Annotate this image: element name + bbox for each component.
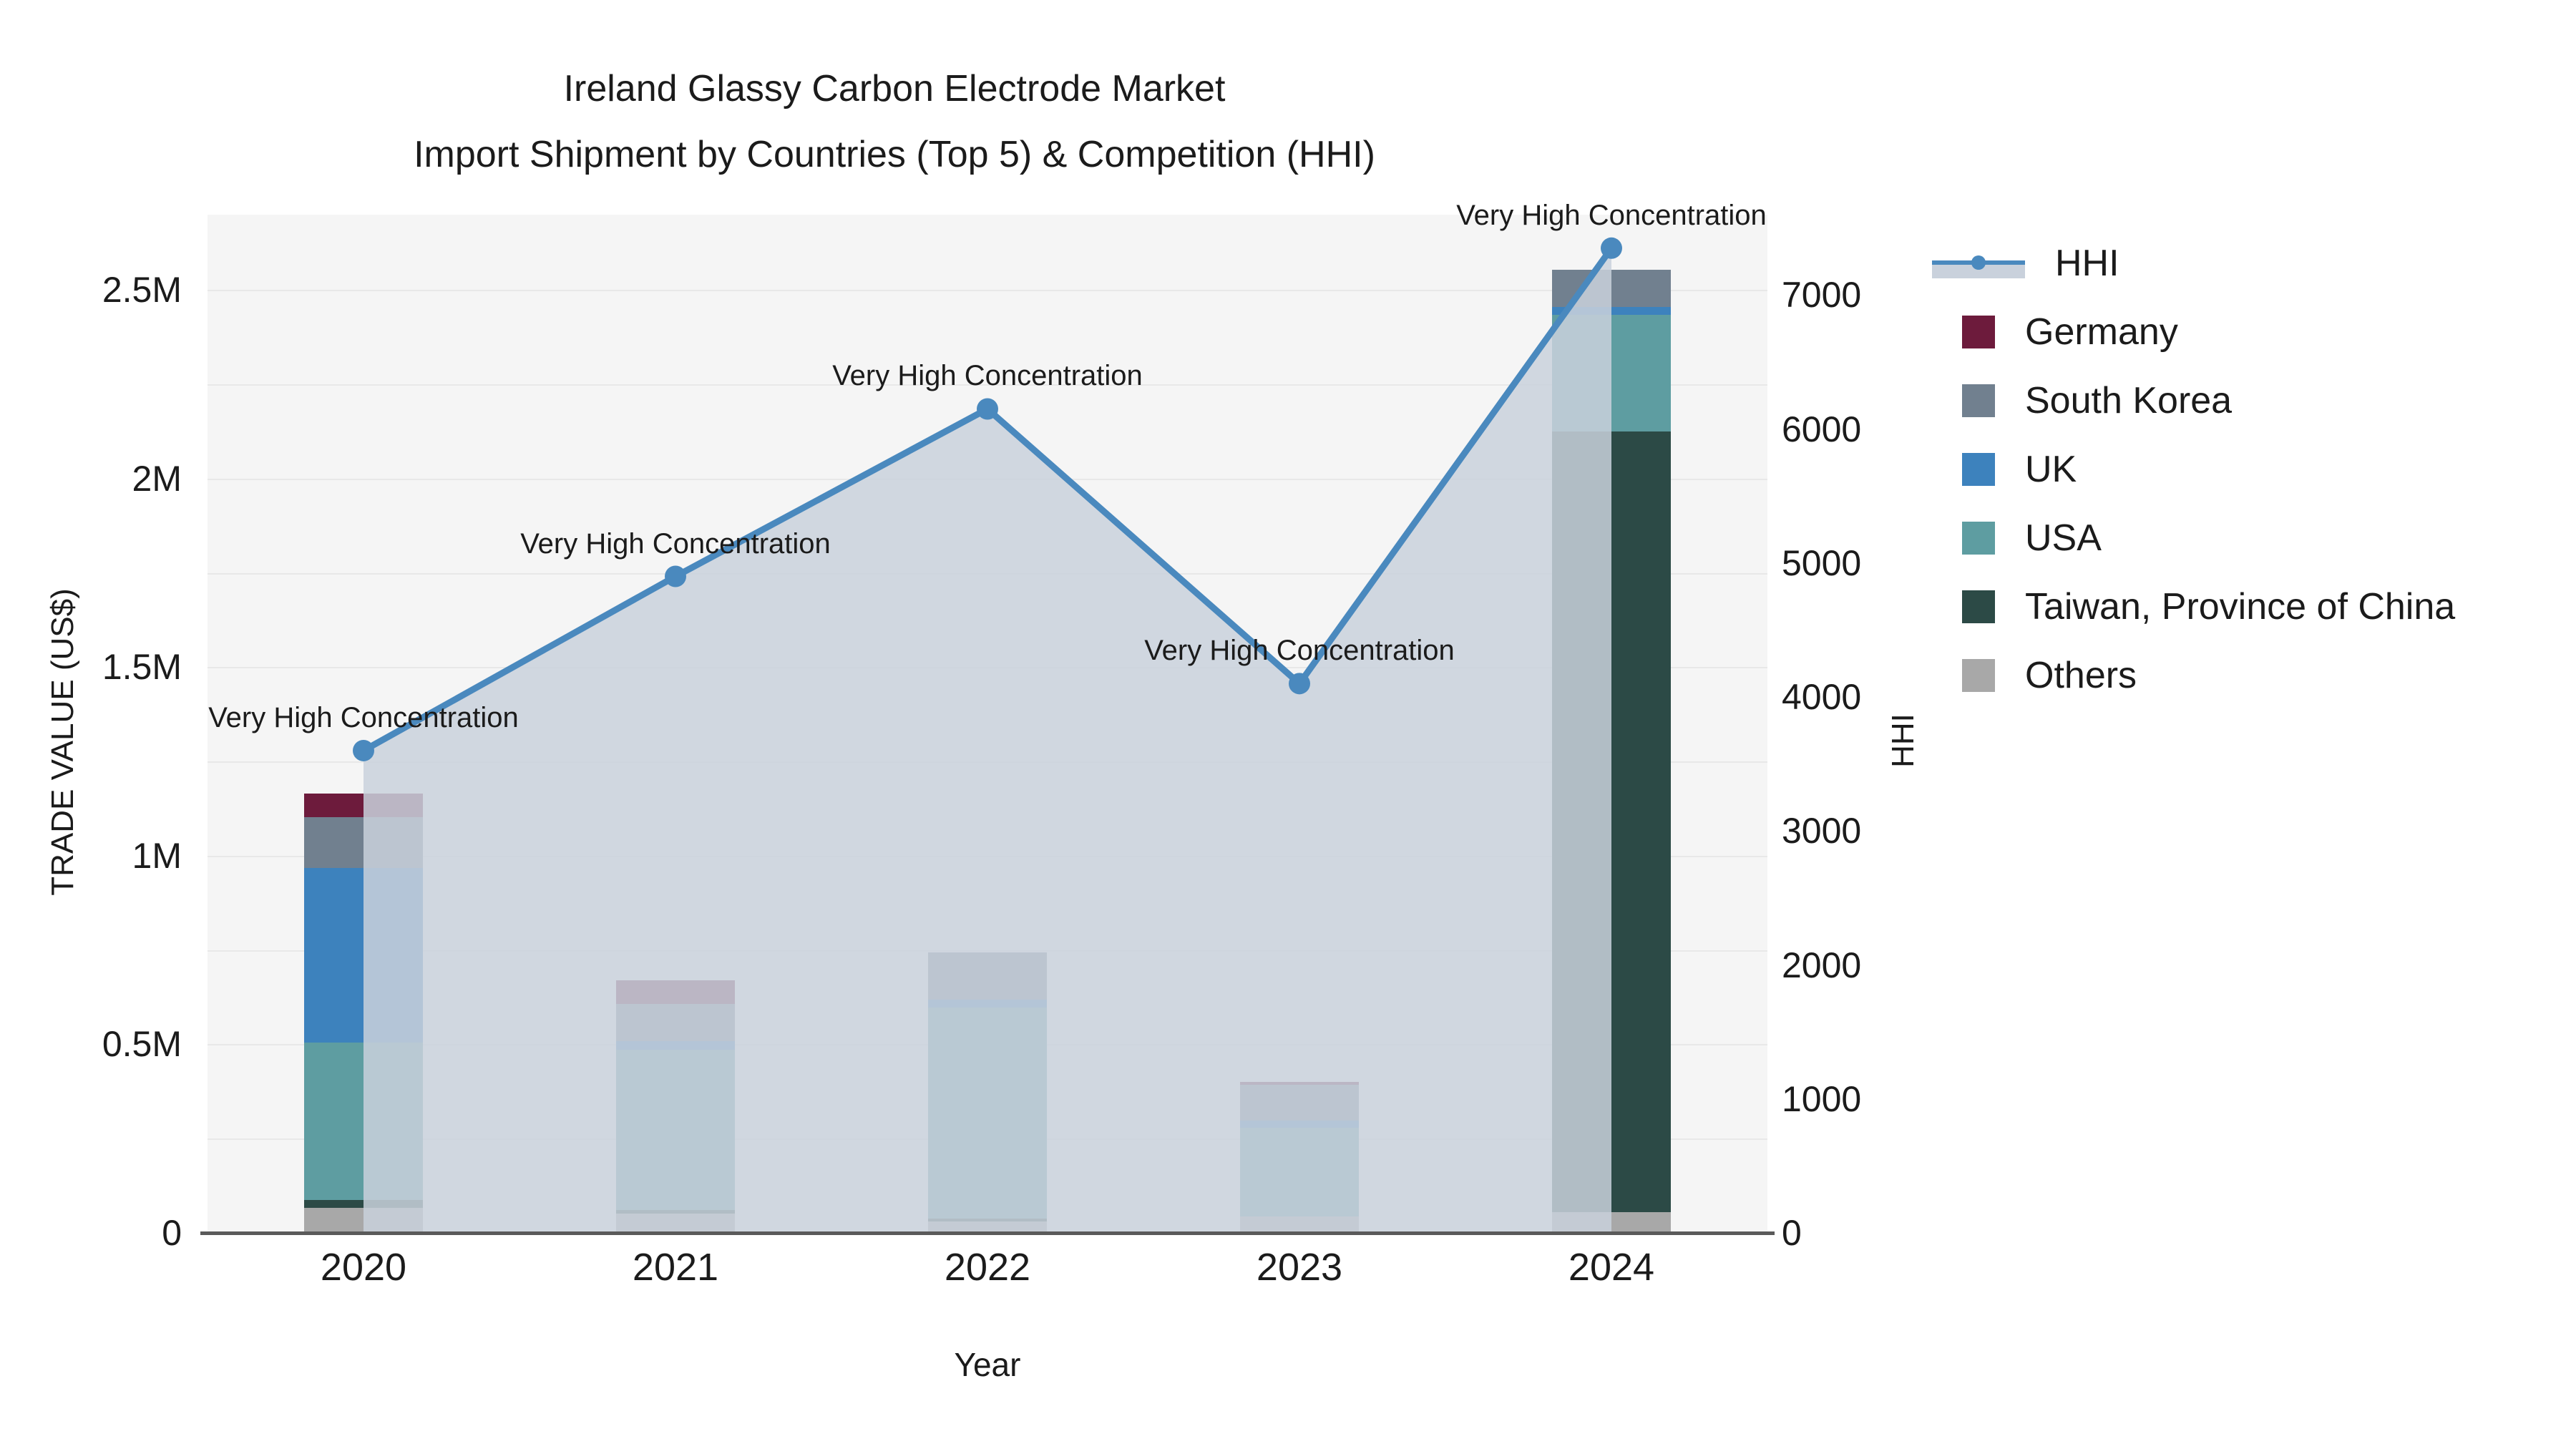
chart-legend: HHIGermanySouth KoreaUKUSATaiwan, Provin… [1932,229,2562,710]
x-axis-spine [200,1231,1775,1235]
y-axis-right-tick-label: 1000 [1782,1078,1861,1120]
hhi-annotation-label: Very High Concentration [1144,635,1455,667]
legend-item[interactable]: Taiwan, Province of China [1932,572,2562,641]
x-axis-tick-label: 2022 [945,1245,1030,1289]
chart-figure: Ireland Glassy Carbon Electrode Market I… [0,0,2576,1449]
hhi-data-point[interactable] [353,740,374,761]
x-axis-tick-label: 2021 [633,1245,718,1289]
y-axis-right-tick-label: 5000 [1782,542,1861,584]
legend-color-swatch [1962,453,1995,486]
legend-item[interactable]: South Korea [1932,366,2562,435]
hhi-data-point[interactable] [1289,673,1310,694]
y-axis-left-tick-label: 0 [162,1212,182,1254]
legend-item-label: Germany [2025,311,2178,353]
y-axis-right-tick-label: 6000 [1782,409,1861,450]
hhi-data-point[interactable] [665,566,686,587]
legend-line-marker [1932,247,2025,280]
x-axis-tick-label: 2020 [321,1245,406,1289]
y-axis-right-tick-label: 2000 [1782,945,1861,986]
legend-item[interactable]: Others [1932,641,2562,710]
chart-title-line-1: Ireland Glassy Carbon Electrode Market [0,56,1789,122]
hhi-annotation-label: Very High Concentration [520,528,831,560]
legend-item-label: HHI [2055,242,2119,285]
y-axis-right-tick-label: 0 [1782,1212,1802,1254]
legend-item-label: Taiwan, Province of China [2025,585,2455,628]
hhi-data-point[interactable] [977,398,998,419]
x-axis-ticks: 20202021202220232024 [208,1245,1767,1302]
legend-item-label: USA [2025,517,2102,560]
legend-item[interactable]: UK [1932,435,2562,504]
legend-item[interactable]: Germany [1932,298,2562,366]
y-axis-left-tick-label: 1.5M [102,646,182,688]
hhi-annotation-label: Very High Concentration [1456,200,1767,232]
x-axis-title: Year [208,1345,1767,1384]
y-axis-left-tick-label: 2.5M [102,269,182,311]
legend-item-label: UK [2025,448,2077,491]
y-axis-left-tick-label: 0.5M [102,1023,182,1065]
hhi-data-point[interactable] [1601,238,1622,259]
chart-title-line-2: Import Shipment by Countries (Top 5) & C… [0,122,1789,187]
hhi-annotation-label: Very High Concentration [832,360,1143,392]
chart-title: Ireland Glassy Carbon Electrode Market I… [0,56,1789,187]
legend-color-swatch [1962,522,1995,555]
legend-item-label: Others [2025,654,2137,697]
legend-item[interactable]: HHI [1932,229,2562,298]
legend-item-label: South Korea [2025,379,2232,422]
hhi-annotation-label: Very High Concentration [208,702,519,734]
hhi-area-fill [364,248,1611,1233]
legend-color-swatch [1962,659,1995,692]
plot-area: Very High ConcentrationVery High Concent… [208,215,1767,1233]
legend-color-swatch [1962,316,1995,348]
y-axis-right-tick-label: 3000 [1782,810,1861,852]
y-axis-right-tick-label: 7000 [1782,274,1861,316]
y-axis-left-tick-label: 2M [132,458,182,499]
x-axis-tick-label: 2024 [1568,1245,1654,1289]
y-axis-right-title: HHI [1885,597,1921,884]
y-axis-left-title: TRADE VALUE (US$) [45,492,81,992]
y-axis-left-tick-label: 1M [132,835,182,877]
legend-item[interactable]: USA [1932,504,2562,572]
legend-color-swatch [1962,590,1995,623]
y-axis-right-tick-label: 4000 [1782,676,1861,718]
x-axis-tick-label: 2023 [1257,1245,1342,1289]
legend-color-swatch [1962,384,1995,417]
y-axis-left-ticks: 00.5M1M1.5M2M2.5M [0,215,195,1233]
